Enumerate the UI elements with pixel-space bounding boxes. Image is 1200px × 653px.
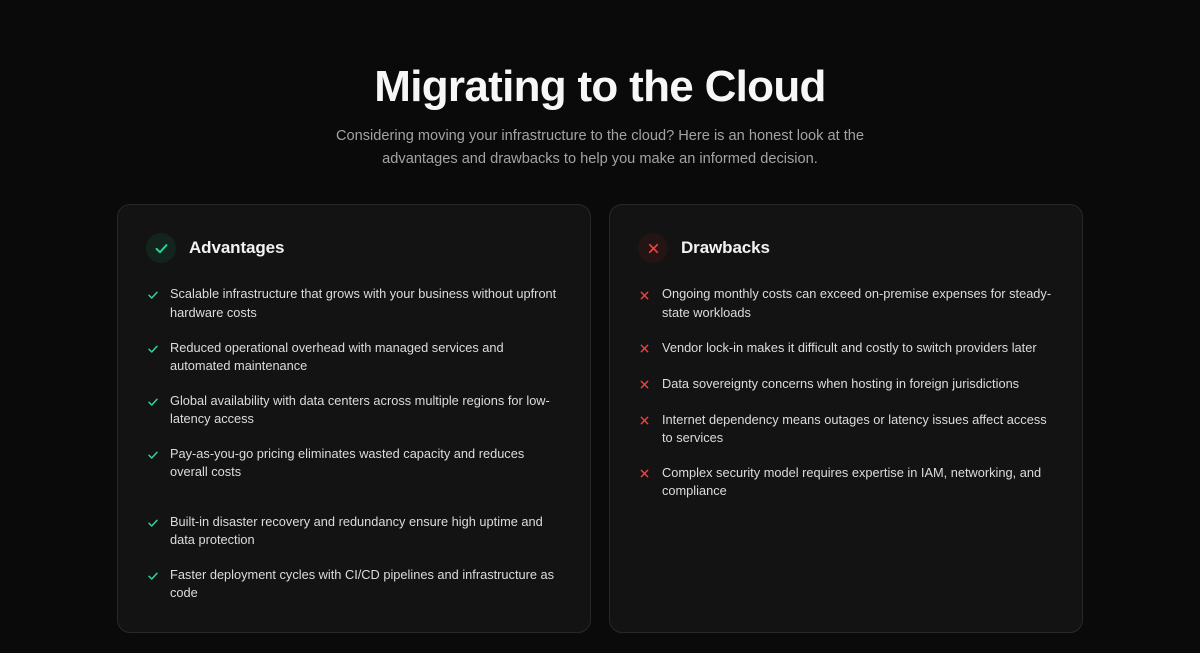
comparison-cards: Advantages Scalable infrastructure that … (0, 204, 1200, 633)
check-icon (146, 286, 159, 304)
list-item: Reduced operational overhead with manage… (146, 339, 562, 375)
list-item: Global availability with data centers ac… (146, 392, 562, 428)
list-item-text: Data sovereignty concerns when hosting i… (662, 375, 1019, 393)
x-icon (638, 376, 651, 394)
list-item-text: Vendor lock-in makes it difficult and co… (662, 339, 1037, 357)
list-item-text: Complex security model requires expertis… (662, 464, 1054, 500)
page-title: Migrating to the Cloud (0, 62, 1200, 111)
list-item-text: Scalable infrastructure that grows with … (170, 285, 562, 321)
advantages-card: Advantages Scalable infrastructure that … (117, 204, 591, 633)
check-icon (146, 446, 159, 464)
list-item-text: Ongoing monthly costs can exceed on-prem… (662, 285, 1054, 321)
check-icon (146, 340, 159, 358)
list-item: Internet dependency means outages or lat… (638, 411, 1054, 447)
list-item: Data sovereignty concerns when hosting i… (638, 375, 1054, 394)
list-item-text: Pay-as-you-go pricing eliminates wasted … (170, 445, 562, 481)
page-root: Migrating to the Cloud Considering movin… (0, 0, 1200, 653)
list-item: Pay-as-you-go pricing eliminates wasted … (146, 445, 562, 481)
list-item: Ongoing monthly costs can exceed on-prem… (638, 285, 1054, 321)
x-icon (638, 465, 651, 483)
page-subtitle: Considering moving your infrastructure t… (320, 125, 880, 171)
x-circle-icon (638, 233, 668, 263)
advantages-list: Scalable infrastructure that grows with … (146, 285, 562, 602)
advantages-card-title: Advantages (189, 238, 284, 258)
drawbacks-card: Drawbacks Ongoing monthly costs can exce… (609, 204, 1083, 633)
list-item: Faster deployment cycles with CI/CD pipe… (146, 566, 562, 602)
check-icon (146, 393, 159, 411)
check-circle-icon (146, 233, 176, 263)
list-item: Scalable infrastructure that grows with … (146, 285, 562, 321)
drawbacks-card-header: Drawbacks (638, 233, 1054, 263)
list-item-text: Internet dependency means outages or lat… (662, 411, 1054, 447)
drawbacks-list: Ongoing monthly costs can exceed on-prem… (638, 285, 1054, 500)
page-header: Migrating to the Cloud Considering movin… (0, 0, 1200, 171)
check-icon (146, 514, 159, 532)
list-item-text: Global availability with data centers ac… (170, 392, 562, 428)
list-item: Complex security model requires expertis… (638, 464, 1054, 500)
list-item-text: Faster deployment cycles with CI/CD pipe… (170, 566, 562, 602)
advantages-card-header: Advantages (146, 233, 562, 263)
x-icon (638, 412, 651, 430)
list-item-text: Built-in disaster recovery and redundanc… (170, 513, 562, 549)
x-icon (638, 286, 651, 304)
x-icon (638, 340, 651, 358)
list-item: Built-in disaster recovery and redundanc… (146, 513, 562, 549)
drawbacks-card-title: Drawbacks (681, 238, 770, 258)
check-icon (146, 567, 159, 585)
list-item-text: Reduced operational overhead with manage… (170, 339, 562, 375)
list-item: Vendor lock-in makes it difficult and co… (638, 339, 1054, 358)
